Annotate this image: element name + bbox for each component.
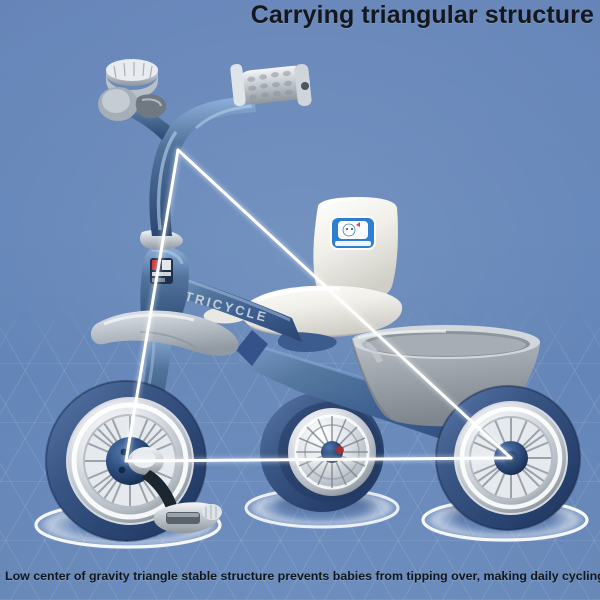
- bell: [98, 59, 166, 121]
- page-caption: Low center of gravity triangle stable st…: [5, 569, 595, 583]
- handlebar-grip-right: [230, 63, 312, 106]
- seat-badge: [330, 216, 376, 250]
- tricycle-illustration: TRICYCLE: [0, 0, 600, 600]
- product-illustration-page: TRICYCLE: [0, 0, 600, 600]
- page-title: Carrying triangular structure: [251, 1, 594, 30]
